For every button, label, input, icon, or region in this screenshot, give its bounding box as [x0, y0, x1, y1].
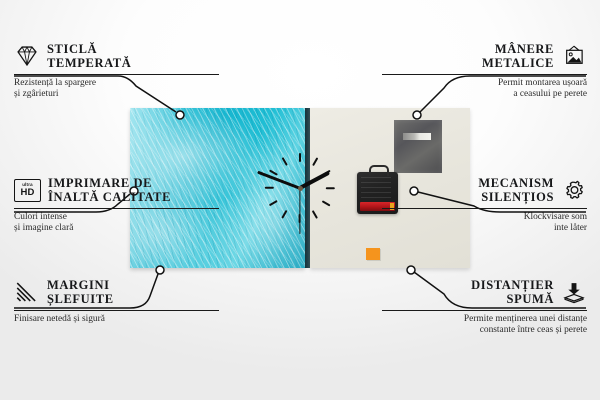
callout-description: Permite menținerea unei distanțe constan… [382, 314, 587, 336]
callout-foam-spacer[interactable]: DISTANȚIER SPUMĂ Permite menținerea unei… [382, 278, 587, 336]
callout-description: Finisare netedă și sigură [14, 314, 219, 325]
picture-frame-hanger-icon [561, 44, 587, 68]
product-photo [130, 108, 470, 268]
gear-icon [561, 178, 587, 202]
polished-edges-icon [14, 280, 40, 304]
callout-title: STICLĂ TEMPERATĂ [47, 42, 131, 70]
ultra-hd-icon: ultra HD [14, 179, 41, 202]
callout-description: Rezistență la spargere și zgârieturi [14, 78, 219, 100]
clock-center-pin [298, 186, 303, 191]
callout-rule [14, 74, 219, 75]
press-down-icon [561, 280, 587, 304]
callout-title: MECANISM SILENȚIOS [478, 176, 554, 204]
callout-header: DISTANȚIER SPUMĂ [382, 278, 587, 306]
callout-rule [382, 74, 587, 75]
callout-tempered-glass[interactable]: STICLĂ TEMPERATĂ Rezistență la spargere … [14, 42, 219, 100]
callout-header: MÂNERE METALICE [382, 42, 587, 70]
callout-polished-edges[interactable]: MARGINI ȘLEFUITE Finisare netedă și sigu… [14, 278, 219, 325]
callout-header: MARGINI ȘLEFUITE [14, 278, 219, 306]
callout-title: MÂNERE METALICE [482, 42, 554, 70]
callout-header: STICLĂ TEMPERATĂ [14, 42, 219, 70]
callout-metal-hangers[interactable]: MÂNERE METALICE Permit montarea ușoară a… [382, 42, 587, 100]
callout-rule [382, 310, 587, 311]
callout-title: DISTANȚIER SPUMĂ [471, 278, 554, 306]
callout-description: Permit montarea ușoară a ceasului pe per… [382, 78, 587, 100]
diamond-icon [14, 44, 40, 68]
clock-face [130, 108, 470, 268]
callout-rule [14, 310, 219, 311]
infographic-stage: STICLĂ TEMPERATĂ Rezistență la spargere … [0, 0, 600, 400]
callout-title: MARGINI ȘLEFUITE [47, 278, 114, 306]
